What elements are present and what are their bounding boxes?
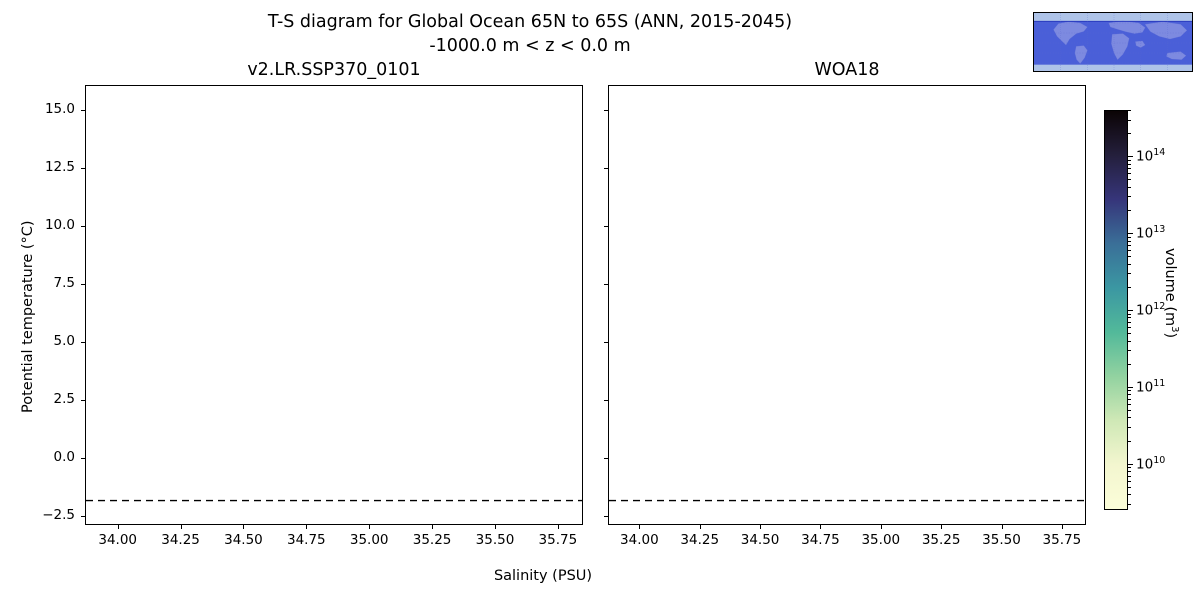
figure-subtitle: -1000.0 m < z < 0.0 m: [0, 36, 1060, 57]
x-tick-label: 35.75: [528, 532, 588, 548]
x-tick-label: 34.50: [213, 532, 273, 548]
y-axis-label: Potential temperature (°C): [20, 220, 36, 413]
world-map-svg: [1034, 13, 1193, 72]
colorbar-minor-tick: [1128, 399, 1131, 400]
colorbar-tick: [1128, 156, 1133, 157]
colorbar-minor-tick: [1128, 187, 1131, 188]
x-tick: [1002, 525, 1003, 529]
colorbar-minor-tick: [1128, 250, 1131, 251]
x-tick: [369, 525, 370, 529]
y-tick: [81, 516, 85, 517]
colorbar-minor-tick: [1128, 410, 1131, 411]
x-tick: [495, 525, 496, 529]
y-tick: [81, 458, 85, 459]
y-tick: [81, 342, 85, 343]
colorbar-minor-tick: [1128, 110, 1131, 111]
colorbar-minor-tick: [1128, 471, 1131, 472]
colorbar-minor-tick: [1128, 341, 1131, 342]
x-tick-label: 35.50: [465, 532, 525, 548]
colorbar-minor-tick: [1128, 467, 1131, 468]
colorbar-minor-tick: [1128, 160, 1131, 161]
x-tick: [243, 525, 244, 529]
x-tick-label: 34.75: [276, 532, 336, 548]
y-tick-label: 7.5: [15, 275, 75, 291]
y-tick: [604, 400, 608, 401]
panel-title-left: v2.LR.SSP370_0101: [85, 60, 583, 80]
colorbar-minor-tick: [1128, 164, 1131, 165]
x-tick-label: 34.75: [790, 532, 850, 548]
colorbar-minor-tick: [1128, 317, 1131, 318]
y-tick: [81, 168, 85, 169]
x-tick: [760, 525, 761, 529]
figure-canvas: T-S diagram for Global Ocean 65N to 65S …: [0, 0, 1200, 600]
colorbar-minor-tick: [1128, 333, 1131, 334]
x-tick: [181, 525, 182, 529]
colorbar-tick-label: 1011: [1136, 378, 1165, 396]
plot-panel-left[interactable]: [85, 85, 583, 525]
y-tick-label: 0.0: [15, 449, 75, 465]
colorbar-minor-tick: [1128, 427, 1131, 428]
x-tick-label: 35.25: [911, 532, 971, 548]
colorbar-minor-tick: [1128, 417, 1131, 418]
x-tick: [118, 525, 119, 529]
colorbar-minor-tick: [1128, 481, 1131, 482]
x-tick-label: 35.75: [1032, 532, 1092, 548]
x-tick: [639, 525, 640, 529]
x-tick: [700, 525, 701, 529]
density-contours: [86, 86, 582, 524]
y-tick-label: 12.5: [15, 159, 75, 175]
x-tick-label: 35.50: [972, 532, 1032, 548]
colorbar-minor-tick: [1128, 210, 1131, 211]
x-tick: [558, 525, 559, 529]
colorbar-minor-tick: [1128, 322, 1131, 323]
colorbar-minor-tick: [1128, 390, 1131, 391]
colorbar-minor-tick: [1128, 245, 1131, 246]
colorbar-minor-tick: [1128, 504, 1131, 505]
colorbar-minor-tick: [1128, 237, 1131, 238]
colorbar-minor-tick: [1128, 394, 1131, 395]
colorbar-minor-tick: [1128, 241, 1131, 242]
colorbar-tick: [1128, 233, 1133, 234]
y-tick: [604, 284, 608, 285]
colorbar-minor-tick: [1128, 196, 1131, 197]
panel-title-right: WOA18: [608, 60, 1086, 80]
x-tick: [881, 525, 882, 529]
colorbar-minor-tick: [1128, 287, 1131, 288]
colorbar-tick-label: 1013: [1136, 224, 1165, 242]
colorbar-tick: [1128, 387, 1133, 388]
colorbar-minor-tick: [1128, 273, 1131, 274]
y-tick: [81, 226, 85, 227]
colorbar-minor-tick: [1128, 494, 1131, 495]
x-tick-label: 35.00: [851, 532, 911, 548]
colorbar-minor-tick: [1128, 256, 1131, 257]
colorbar-minor-tick: [1128, 327, 1131, 328]
y-tick: [604, 226, 608, 227]
colorbar-minor-tick: [1128, 441, 1131, 442]
colorbar-minor-tick: [1128, 264, 1131, 265]
y-tick: [604, 110, 608, 111]
y-tick-label: 10.0: [15, 217, 75, 233]
y-tick: [604, 458, 608, 459]
colorbar-minor-tick: [1128, 179, 1131, 180]
colorbar-tick: [1128, 464, 1133, 465]
x-tick-label: 34.25: [151, 532, 211, 548]
y-tick: [81, 110, 85, 111]
x-tick: [820, 525, 821, 529]
colorbar-minor-tick: [1128, 476, 1131, 477]
y-tick-label: −2.5: [15, 507, 75, 523]
colorbar-minor-tick: [1128, 314, 1131, 315]
y-tick: [604, 342, 608, 343]
region-map-inset[interactable]: [1033, 12, 1193, 72]
x-tick-label: 34.00: [88, 532, 148, 548]
y-tick: [604, 168, 608, 169]
colorbar[interactable]: [1104, 110, 1128, 510]
x-tick-label: 34.50: [730, 532, 790, 548]
y-tick-label: 15.0: [15, 101, 75, 117]
y-tick-label: 2.5: [15, 391, 75, 407]
x-tick-label: 34.25: [670, 532, 730, 548]
x-tick: [306, 525, 307, 529]
colorbar-minor-tick: [1128, 487, 1131, 488]
colorbar-minor-tick: [1128, 364, 1131, 365]
x-tick: [941, 525, 942, 529]
x-tick-label: 35.25: [402, 532, 462, 548]
colorbar-tick-label: 1014: [1136, 147, 1165, 165]
colorbar-minor-tick: [1128, 173, 1131, 174]
x-tick: [432, 525, 433, 529]
y-tick: [81, 400, 85, 401]
x-axis-label: Salinity (PSU): [0, 568, 1086, 584]
x-tick-label: 35.00: [339, 532, 399, 548]
colorbar-tick-label: 1010: [1136, 455, 1165, 473]
colorbar-label: volume (m3): [1162, 248, 1180, 338]
colorbar-label-close: ): [1162, 332, 1178, 338]
density-contours: [609, 86, 1085, 524]
colorbar-tick-label: 1012: [1136, 301, 1165, 319]
y-tick-label: 5.0: [15, 333, 75, 349]
colorbar-tick: [1128, 310, 1133, 311]
y-tick: [604, 516, 608, 517]
plot-panel-right[interactable]: [608, 85, 1086, 525]
colorbar-minor-tick: [1128, 133, 1131, 134]
figure-suptitle: T-S diagram for Global Ocean 65N to 65S …: [0, 12, 1060, 33]
colorbar-minor-tick: [1128, 404, 1131, 405]
y-tick: [81, 284, 85, 285]
colorbar-minor-tick: [1128, 350, 1131, 351]
x-tick: [1062, 525, 1063, 529]
colorbar-minor-tick: [1128, 120, 1131, 121]
x-tick-label: 34.00: [609, 532, 669, 548]
colorbar-minor-tick: [1128, 168, 1131, 169]
